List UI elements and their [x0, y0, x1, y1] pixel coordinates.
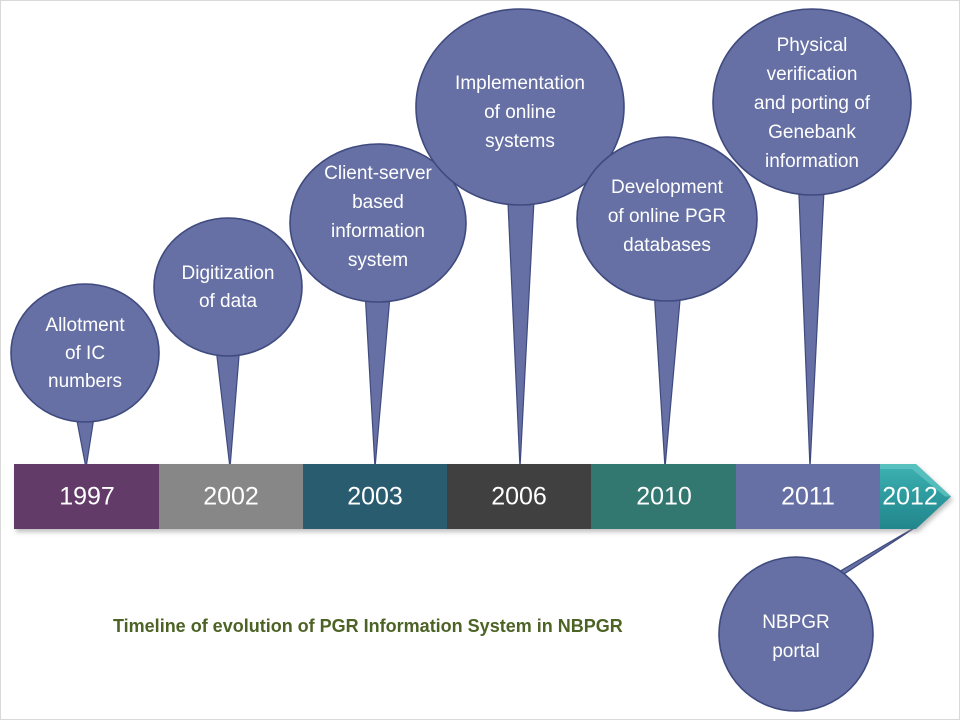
callout-2002[interactable]: Digitization of data [154, 218, 302, 356]
year-label-2010: 2010 [636, 483, 692, 511]
callout-line-2011-3: Genebank [768, 122, 856, 143]
year-label-2003: 2003 [347, 483, 403, 511]
year-label-2006: 2006 [491, 483, 547, 511]
diagram-caption: Timeline of evolution of PGR Information… [113, 616, 623, 636]
callout-line-2003-3: system [348, 250, 408, 271]
year-label-2012: 2012 [882, 483, 938, 511]
callout-line-2011-4: information [765, 151, 859, 172]
callout-line-1997-1: of IC [65, 343, 105, 364]
callout-line-2002-1: of data [199, 291, 258, 312]
year-label-2002: 2002 [203, 483, 259, 511]
callout-line-2003-0: Client-server [324, 163, 432, 184]
callout-1997[interactable]: Allotment of IC numbers [11, 284, 159, 422]
callout-line-1997-2: numbers [48, 371, 122, 392]
callout-line-2006-1: of online [484, 102, 556, 123]
tail-2011 [798, 171, 825, 468]
callout-line-2010-2: databases [623, 235, 711, 256]
callout-line-2003-1: based [352, 192, 404, 213]
diagram-canvas: 1997 2002 2003 2006 2010 2011 2012 Allot… [1, 1, 960, 720]
callout-2011[interactable]: Physical verification and porting of Gen… [713, 9, 911, 195]
tail-2006 [507, 181, 535, 468]
callout-line-1997-0: Allotment [45, 315, 125, 336]
callout-line-2011-0: Physical [777, 35, 848, 56]
callout-bubble-2012[interactable] [719, 557, 873, 711]
callout-line-2012-0: NBPGR [762, 612, 830, 633]
callout-line-2010-1: of online PGR [608, 206, 726, 227]
callout-line-2006-0: Implementation [455, 73, 585, 94]
callout-2010[interactable]: Development of online PGR databases [577, 137, 757, 301]
callout-line-2002-0: Digitization [182, 263, 275, 284]
year-label-2011: 2011 [781, 483, 835, 511]
callout-line-2011-1: verification [767, 64, 858, 85]
timeline-diagram: 1997 2002 2003 2006 2010 2011 2012 Allot… [0, 0, 960, 720]
callout-line-2006-2: systems [485, 131, 555, 152]
callout-line-2010-0: Development [611, 177, 724, 198]
year-label-1997: 1997 [59, 483, 115, 511]
callout-line-2011-2: and porting of [754, 93, 871, 114]
callout-line-2012-1: portal [772, 641, 820, 662]
callout-2012[interactable]: NBPGR portal [719, 557, 873, 711]
tail-2010 [654, 289, 681, 468]
callout-bubble-2002[interactable] [154, 218, 302, 356]
callout-line-2003-2: information [331, 221, 425, 242]
